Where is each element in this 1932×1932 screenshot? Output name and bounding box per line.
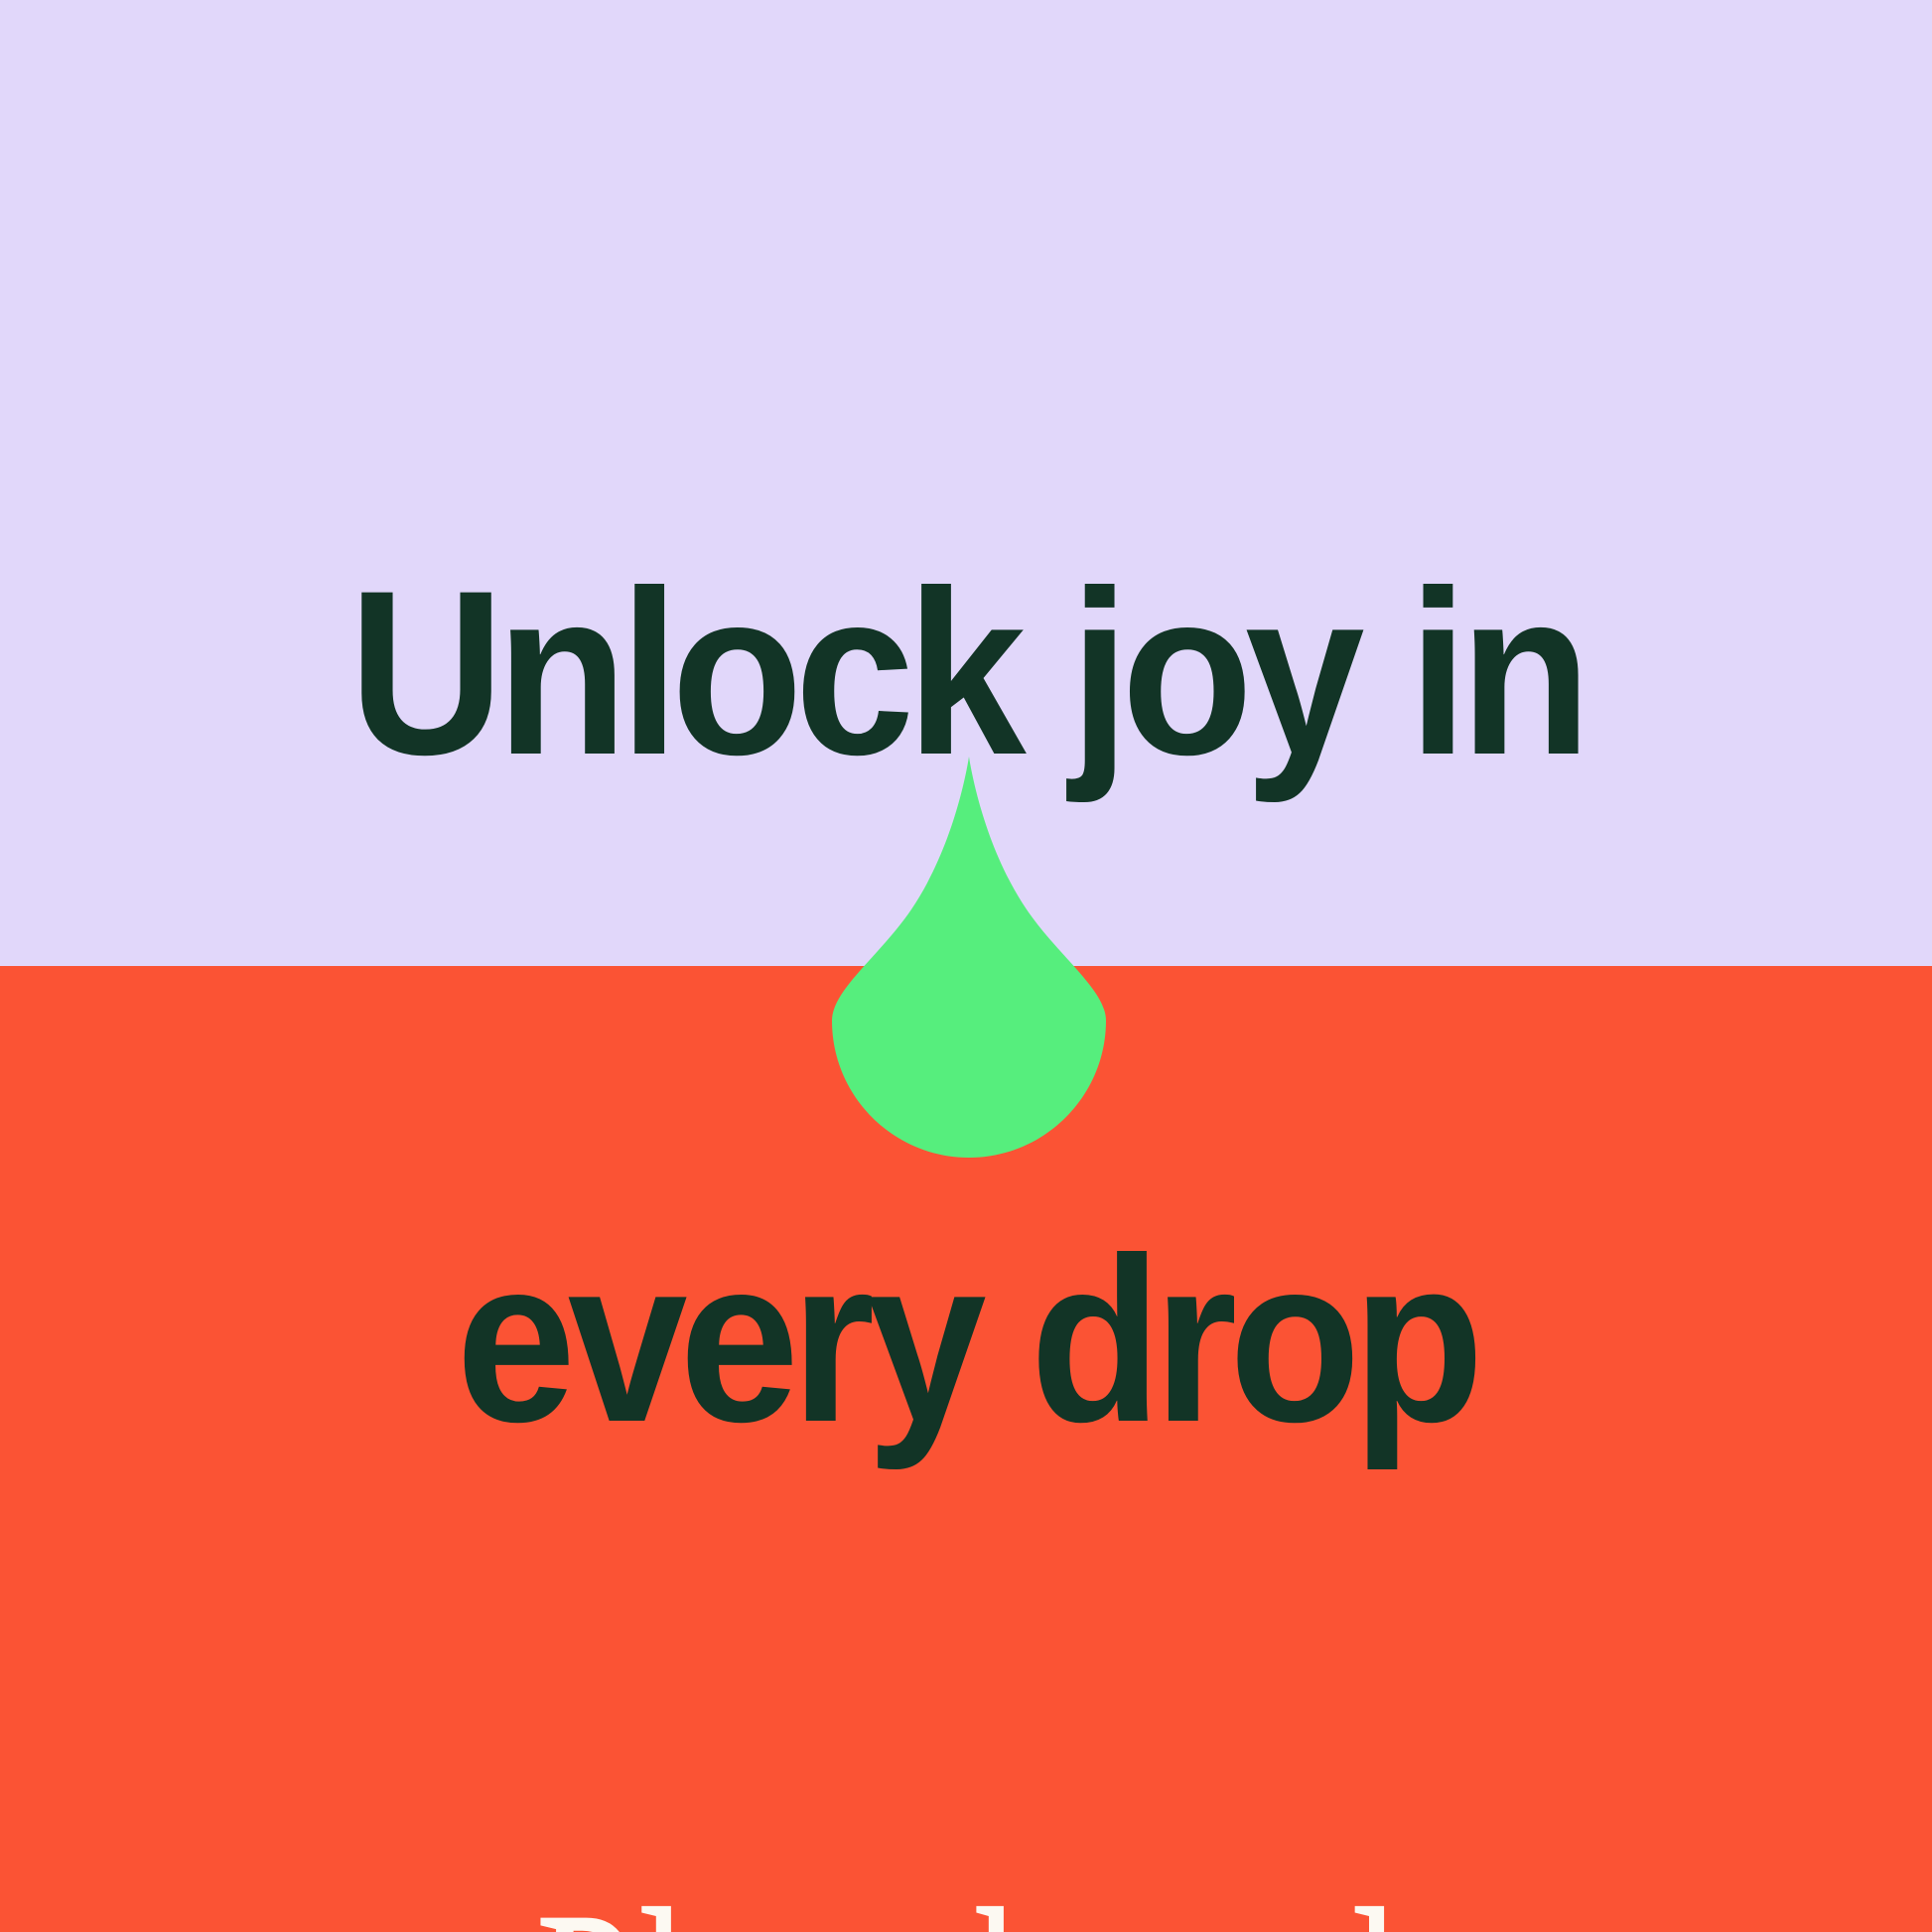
subheadline-line-1: Plant-based xyxy=(367,1853,1566,1932)
water-drop-icon xyxy=(832,757,1106,1158)
headline-line-1: Unlock joy in xyxy=(77,562,1855,784)
poster-canvas: Unlock joy in every drop Plant-based eve… xyxy=(0,0,1932,1932)
subheadline: Plant-based everyday bliss xyxy=(367,1213,1566,1932)
